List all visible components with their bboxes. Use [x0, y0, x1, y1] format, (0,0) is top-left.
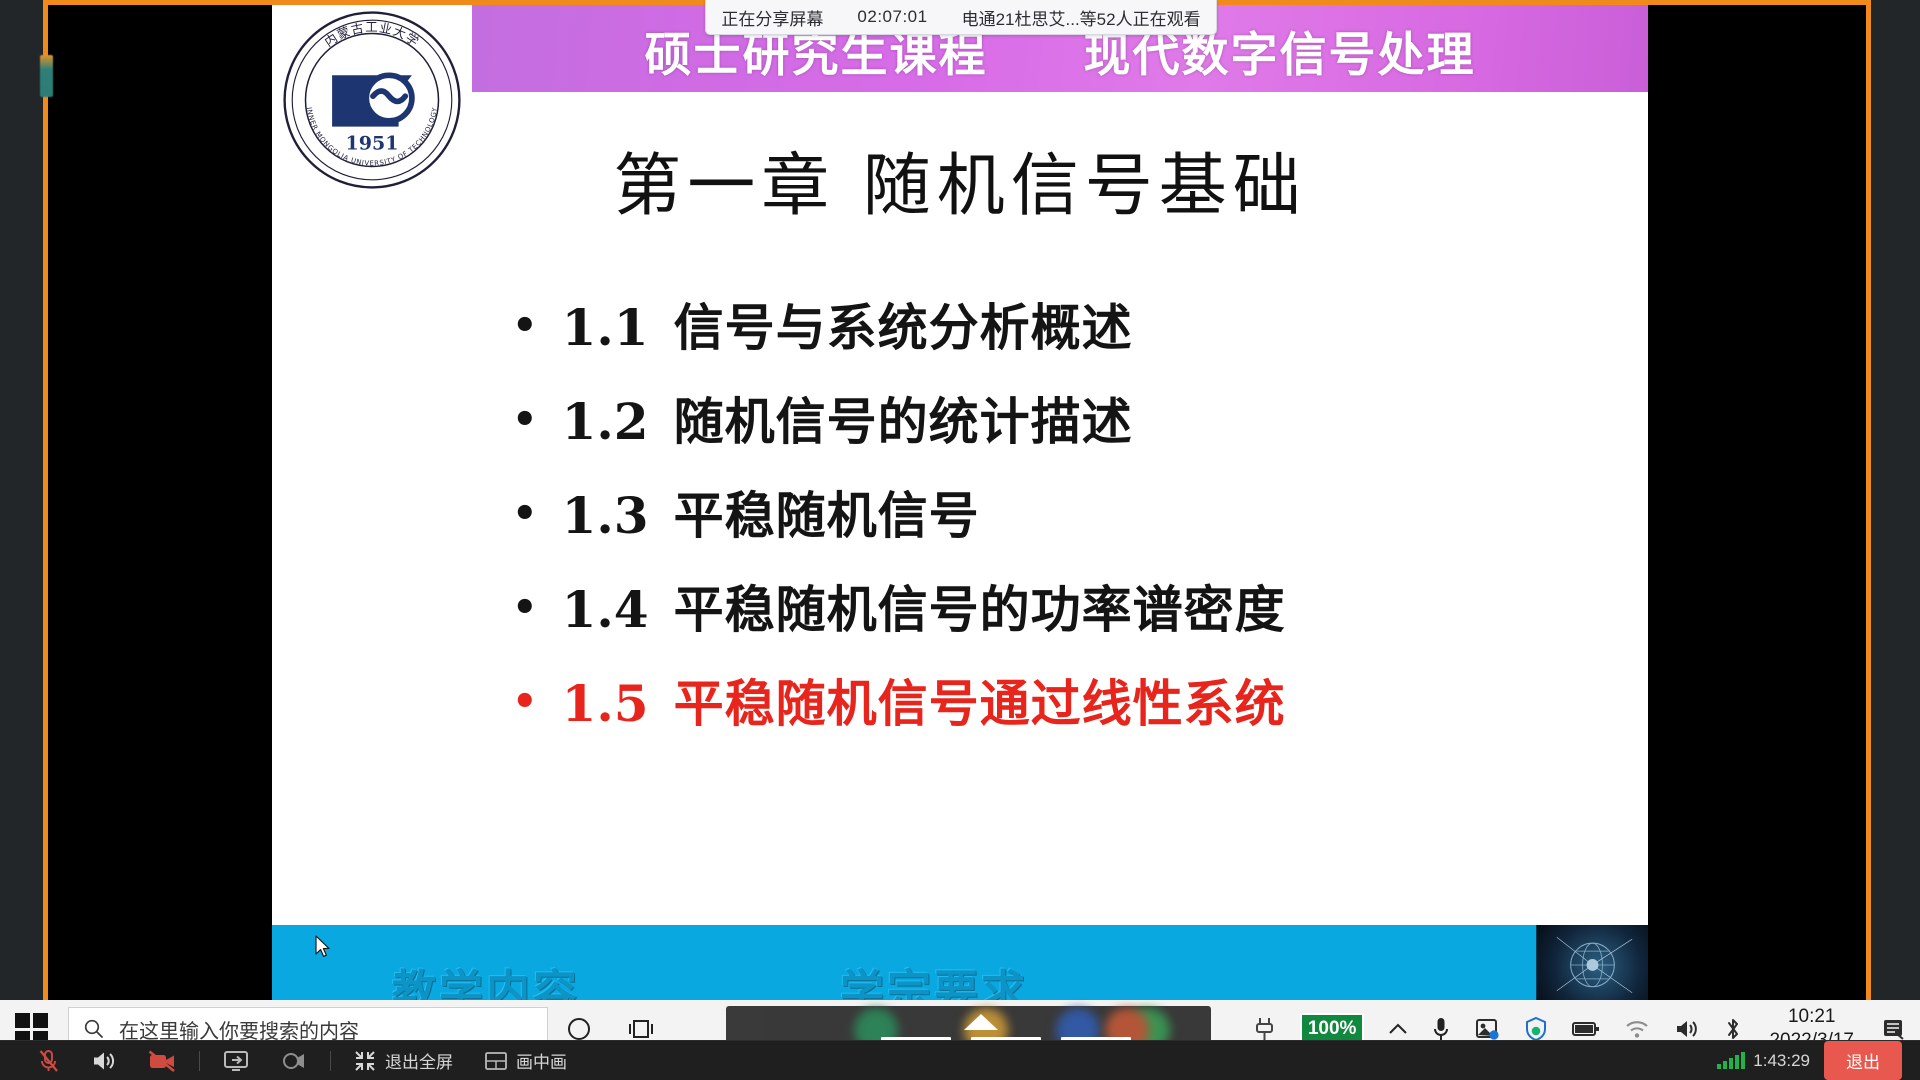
- video-thumbnail[interactable]: [1536, 925, 1648, 1000]
- camera-off-icon: [148, 1050, 176, 1072]
- exit-fullscreen-button[interactable]: 退出全屏: [338, 1041, 469, 1080]
- list-item-highlighted: • 1.5 平稳随机信号通过线性系统: [512, 664, 1642, 736]
- screen: 硕士研究生课程 现代数字信号处理 1951 内蒙古工业大学: [0, 0, 1920, 1080]
- share-screen-icon: [223, 1050, 249, 1072]
- next-slide-text-left: 教学内容: [392, 955, 580, 1000]
- bullet-dot-icon: •: [512, 306, 538, 346]
- bullet-number: 1.4: [562, 580, 674, 639]
- bullet-dot-icon: •: [512, 682, 538, 722]
- snip-glyph-icon: [1474, 1017, 1500, 1041]
- exit-meeting-button[interactable]: 退出: [1824, 1041, 1902, 1080]
- slide-bullet-list: • 1.1 信号与系统分析概述 • 1.2 随机信号的统计描述 • 1.3 平稳…: [512, 288, 1642, 758]
- divider: [199, 1051, 200, 1071]
- speaker-icon: [92, 1050, 116, 1072]
- exit-fullscreen-label: 退出全屏: [385, 1048, 453, 1073]
- record-button[interactable]: [265, 1041, 323, 1080]
- search-icon: [83, 1018, 105, 1040]
- list-item: • 1.1 信号与系统分析概述: [512, 288, 1642, 360]
- meeting-elapsed-time: 1:43:29: [1753, 1051, 1810, 1071]
- svg-text:内蒙古工业大学: 内蒙古工业大学: [322, 20, 422, 50]
- list-item: • 1.2 随机信号的统计描述: [512, 382, 1642, 454]
- screen-share-status-bar[interactable]: 正在分享屏幕 02:07:01 电通21杜思艾...等52人正在观看: [705, 0, 1217, 35]
- bullet-number: 1.1: [562, 298, 674, 357]
- microphone-toggle-button[interactable]: [22, 1041, 76, 1080]
- microphone-muted-icon: [38, 1049, 60, 1073]
- university-logo: 1951 内蒙古工业大学 INNER MONGOLIA UNIVERSITY O…: [272, 0, 472, 200]
- divider: [330, 1051, 331, 1071]
- bullet-dot-icon: •: [512, 400, 538, 440]
- svg-text:1951: 1951: [346, 132, 399, 154]
- share-timer: 02:07:01: [857, 7, 927, 27]
- presentation-slide[interactable]: 硕士研究生课程 现代数字信号处理 1951 内蒙古工业大学: [272, 0, 1648, 925]
- bullet-number: 1.2: [562, 392, 674, 451]
- share-screen-button[interactable]: [207, 1041, 265, 1080]
- bluetooth-glyph-icon: [1724, 1016, 1742, 1042]
- picture-in-picture-label: 画中画: [516, 1048, 567, 1073]
- overlay-arrow-icon: [964, 1014, 998, 1030]
- bullet-text: 随机信号的统计描述: [674, 382, 1133, 454]
- cortana-circle-icon: [566, 1016, 592, 1042]
- notification-icon: [1881, 1017, 1905, 1041]
- picture-in-picture-button[interactable]: 画中画: [469, 1041, 583, 1080]
- power-plug-glyph-icon: [1254, 1016, 1276, 1042]
- slide-title: 第一章 随机信号基础: [272, 130, 1648, 229]
- bullet-text: 平稳随机信号的功率谱密度: [674, 570, 1286, 642]
- shield-icon: [1524, 1016, 1548, 1042]
- speaker-glyph-icon: [1674, 1018, 1700, 1040]
- mouse-cursor-icon: [315, 935, 331, 959]
- wifi-glyph-icon: [1624, 1018, 1650, 1040]
- list-item: • 1.4 平稳随机信号的功率谱密度: [512, 570, 1642, 642]
- speaker-button[interactable]: [76, 1041, 132, 1080]
- university-seal-icon: 1951 内蒙古工业大学 INNER MONGOLIA UNIVERSITY O…: [277, 5, 467, 195]
- bullet-text: 平稳随机信号通过线性系统: [674, 664, 1286, 736]
- bullet-number: 1.5: [562, 674, 674, 733]
- chevron-up-icon: [1388, 1022, 1408, 1036]
- share-viewers-label: 电通21杜思艾...等52人正在观看: [962, 5, 1201, 30]
- bullet-text: 平稳随机信号: [674, 476, 980, 548]
- camera-toggle-button[interactable]: [132, 1041, 192, 1080]
- exit-fullscreen-icon: [354, 1050, 376, 1072]
- picture-in-picture-icon: [485, 1051, 507, 1071]
- next-slide-text-right: 学宗要求: [840, 955, 1028, 1000]
- globe-network-icon: [1537, 925, 1648, 1000]
- share-frame-handle[interactable]: [40, 55, 53, 97]
- clock-time: 10:21: [1788, 1005, 1836, 1029]
- bullet-dot-icon: •: [512, 588, 538, 628]
- list-item: • 1.3 平稳随机信号: [512, 476, 1642, 548]
- bullet-dot-icon: •: [512, 494, 538, 534]
- share-status-label: 正在分享屏幕: [721, 5, 823, 30]
- left-gutter: [0, 0, 43, 1000]
- battery-glyph-icon: [1572, 1020, 1600, 1038]
- meeting-control-bar[interactable]: 退出全屏 画中画 1:43:29 退出: [0, 1040, 1920, 1080]
- next-slide-preview[interactable]: 教学内容 学宗要求: [272, 925, 1648, 1000]
- microphone-glyph-icon: [1432, 1016, 1450, 1042]
- right-gutter: [1871, 0, 1920, 1000]
- network-signal-indicator: [1717, 1052, 1745, 1069]
- bullet-number: 1.3: [562, 486, 674, 545]
- record-icon: [281, 1050, 307, 1072]
- task-view-glyph-icon: [628, 1017, 654, 1041]
- bullet-text: 信号与系统分析概述: [674, 288, 1133, 360]
